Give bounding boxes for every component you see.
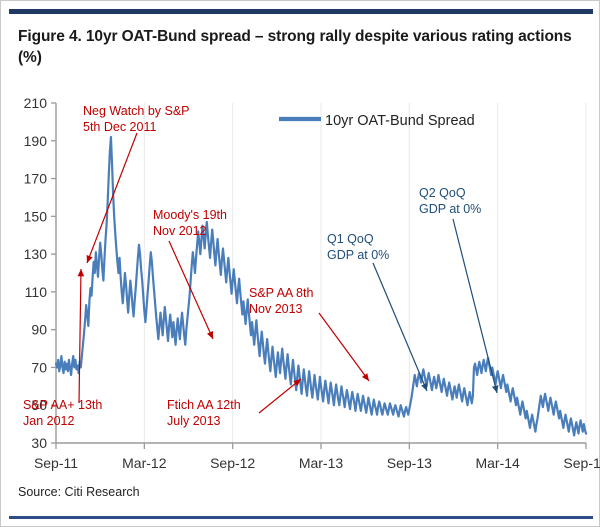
source-note: Source: Citi Research <box>18 485 140 499</box>
top-rule-divider <box>9 9 593 14</box>
chart-legend: 10yr OAT-Bund Spread <box>279 113 475 129</box>
page-title: Figure 4. 10yr OAT-Bund spread – strong … <box>18 27 584 69</box>
figure-card: Figure 4. 10yr OAT-Bund spread – strong … <box>0 0 600 527</box>
x-axis-tick-label: Sep-12 <box>210 455 255 471</box>
y-axis-tick-label: 170 <box>24 171 48 187</box>
y-axis-tick-label: 210 <box>24 95 48 111</box>
x-axis-tick-label: Sep-14 <box>563 455 600 471</box>
annotation-arrow-line-sp-aa-plus <box>79 269 81 403</box>
y-axis-tick-label: 90 <box>31 322 47 338</box>
annotation-label-moodys-downgrade: Moody's 19thNov 2012 <box>153 208 227 238</box>
bottom-rule-divider <box>9 516 593 519</box>
x-axis-tick-label: Sep-11 <box>34 455 78 471</box>
line-chart-svg: 21019017015013011090705030 Sep-11Mar-12S… <box>1 91 600 476</box>
x-axis-tick-label: Sep-13 <box>387 455 432 471</box>
legend-label: 10yr OAT-Bund Spread <box>325 113 475 129</box>
annotation-arrow-line-moodys-downgrade <box>169 241 213 339</box>
annotation-arrow-head-sp-aa <box>362 373 369 381</box>
chart-gridlines <box>144 103 586 443</box>
x-axis-tick-labels: Sep-11Mar-12Sep-12Mar-13Sep-13Mar-14Sep-… <box>34 443 600 471</box>
annotation-label-neg-watch-sp: Neg Watch by S&P5th Dec 2011 <box>83 104 190 134</box>
annotation-arrow-line-sp-aa <box>319 313 369 381</box>
y-axis-tick-label: 130 <box>24 246 48 262</box>
y-axis-tick-label: 30 <box>31 435 47 451</box>
annotation-label-ftich-aa: Ftich AA 12thJuly 2013 <box>167 398 241 428</box>
y-axis-tick-label: 110 <box>25 284 48 300</box>
chart-plot-area: 21019017015013011090705030 Sep-11Mar-12S… <box>1 91 600 476</box>
x-axis-tick-label: Mar-12 <box>122 455 167 471</box>
annotation-arrow-head-sp-aa-plus <box>78 269 85 276</box>
y-axis-tick-label: 70 <box>31 359 47 375</box>
y-axis-tick-label: 190 <box>24 133 48 149</box>
annotation-arrow-head-neg-watch-sp <box>87 255 93 263</box>
annotation-arrow-line-ftich-aa <box>259 379 301 413</box>
y-axis-tick-label: 150 <box>24 208 48 224</box>
annotation-label-q1-gdp: Q1 QoQGDP at 0% <box>327 232 389 262</box>
x-axis-tick-label: Mar-13 <box>299 455 344 471</box>
annotation-label-q2-gdp: Q2 QoQGDP at 0% <box>419 186 481 216</box>
annotation-label-sp-aa: S&P AA 8thNov 2013 <box>249 286 313 316</box>
x-axis-tick-label: Mar-14 <box>475 455 520 471</box>
annotation-arrow-line-q1-gdp <box>373 263 427 391</box>
